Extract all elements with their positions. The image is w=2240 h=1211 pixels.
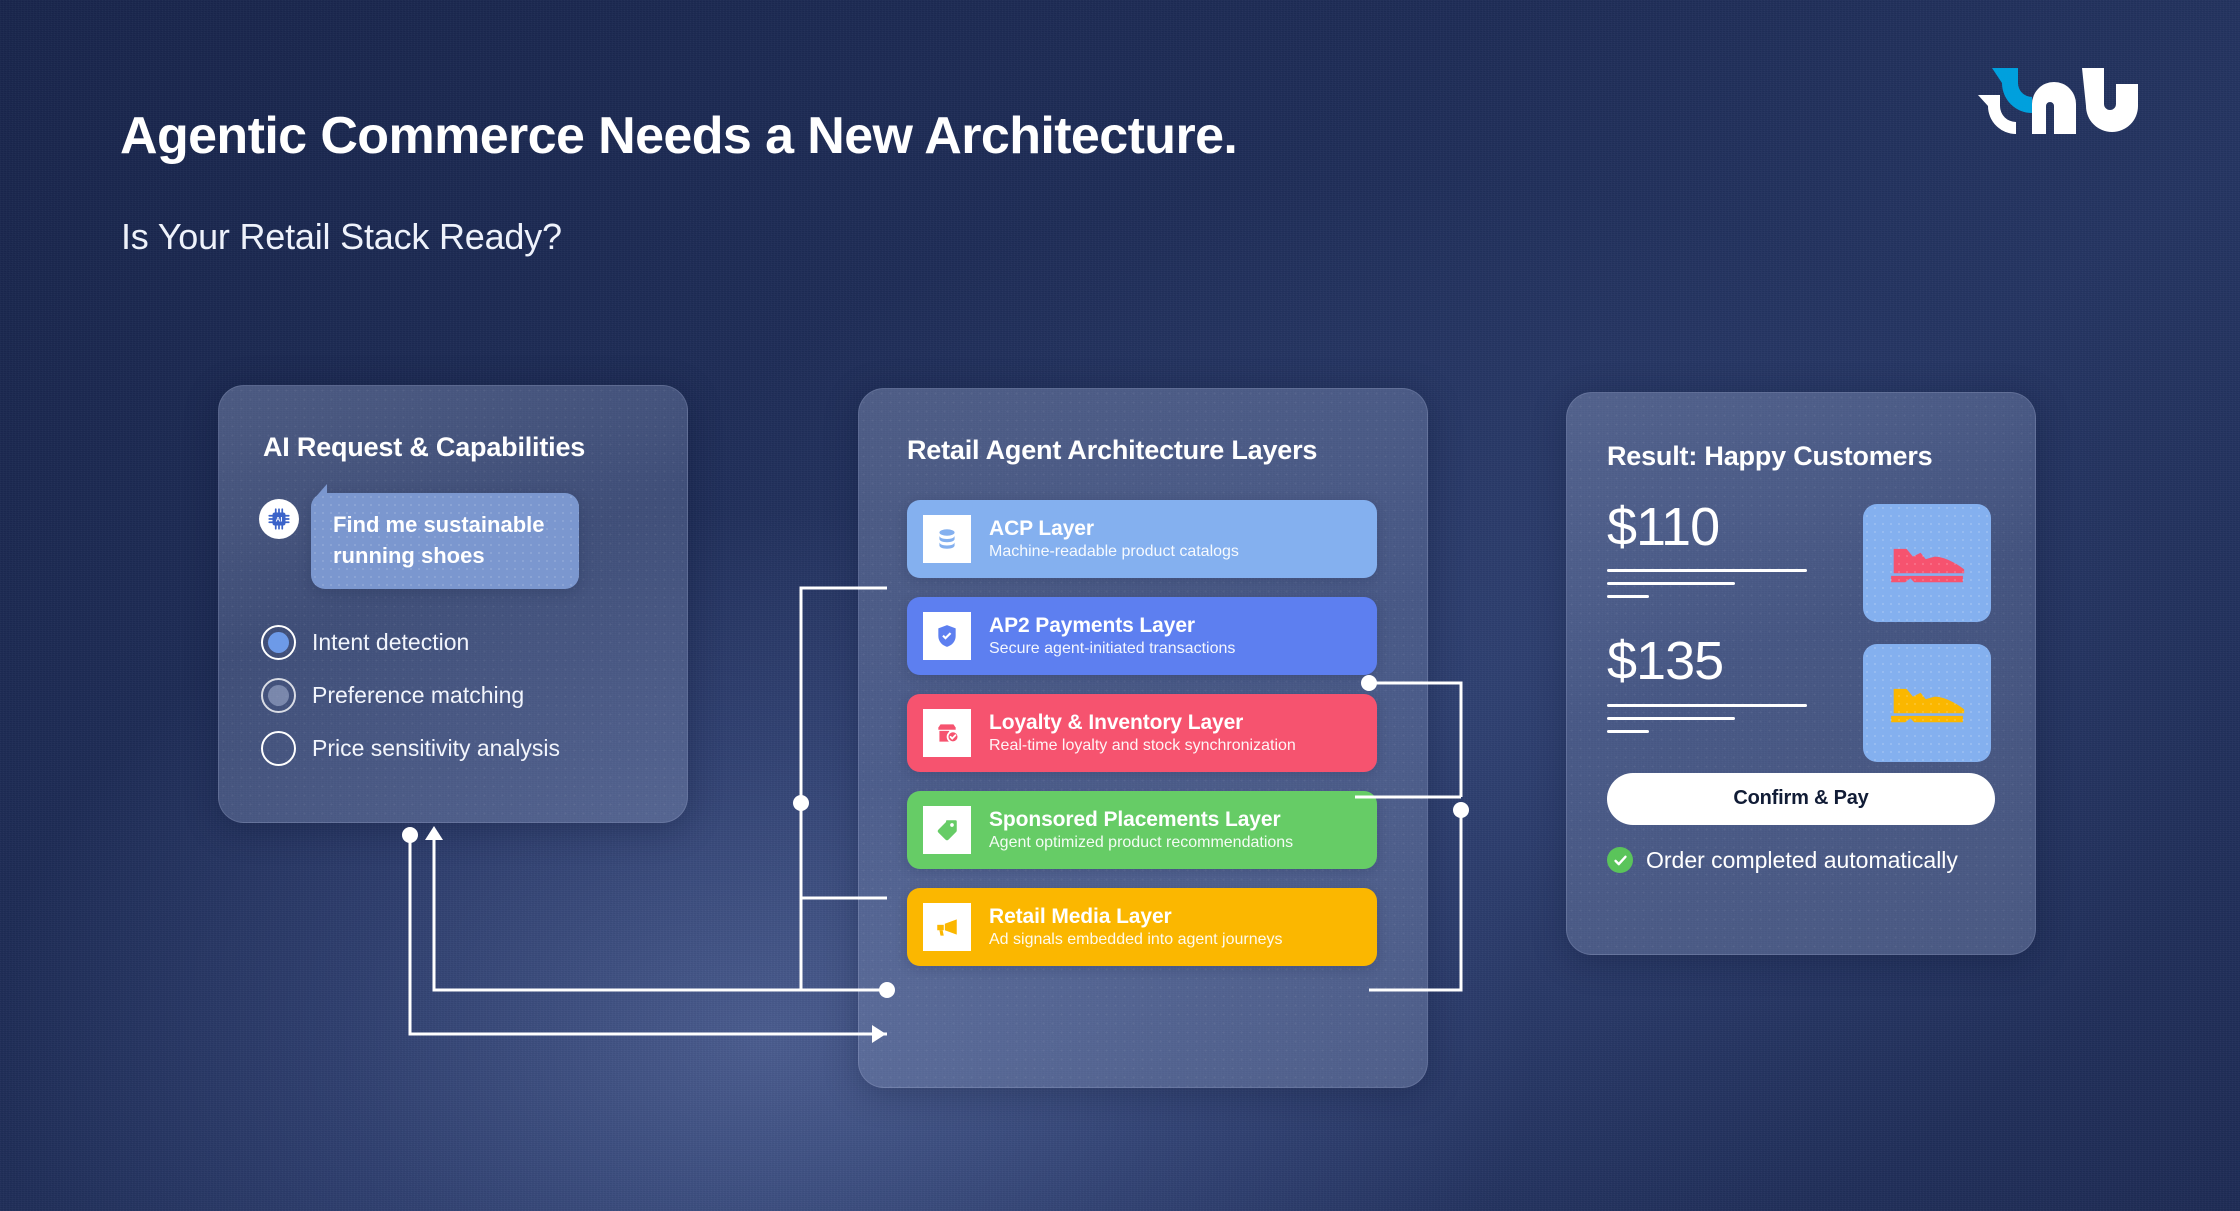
package-check-icon (923, 709, 971, 757)
placeholder-lines (1607, 704, 1855, 733)
capability-item-price-sensitivity-analysis[interactable]: Price sensitivity analysis (261, 731, 687, 766)
architecture-layers-panel: Retail Agent Architecture Layers ACP Lay… (858, 388, 1428, 1088)
layer-name: Retail Media Layer (989, 905, 1283, 929)
layer-desc: Secure agent-initiated transactions (989, 640, 1235, 658)
layer-desc: Agent optimized product recommendations (989, 834, 1293, 852)
ai-chip-glyph: AI (266, 506, 292, 532)
check-glyph (1612, 852, 1629, 869)
price-column: $110 $135 (1607, 498, 1855, 767)
capability-item-preference-matching[interactable]: Preference matching (261, 678, 687, 713)
confirm-and-pay-button[interactable]: Confirm & Pay (1607, 773, 1995, 825)
layer-desc: Machine-readable product catalogs (989, 543, 1239, 561)
layer-name: ACP Layer (989, 517, 1239, 541)
radio-indicator-filled[interactable] (261, 625, 296, 660)
price-tag-glyph (934, 817, 960, 843)
layer-loyalty-inventory[interactable]: Loyalty & Inventory Layer Real-time loya… (907, 694, 1377, 772)
database-glyph (934, 526, 960, 552)
svg-text:AI: AI (276, 517, 283, 524)
layer-ap2-payments[interactable]: AP2 Payments Layer Secure agent-initiate… (907, 597, 1377, 675)
tru-logo-icon (1974, 62, 2140, 134)
ai-chip-icon: AI (259, 499, 299, 539)
capability-label: Price sensitivity analysis (312, 735, 560, 762)
placeholder-lines (1607, 569, 1855, 598)
radio-indicator-dim[interactable] (261, 678, 296, 713)
chat-bubble: Find me sustainable running shoes (311, 493, 579, 589)
capability-label: Preference matching (312, 682, 524, 709)
right-panel-title: Result: Happy Customers (1607, 441, 2035, 472)
page-subtitle: Is Your Retail Stack Ready? (121, 216, 562, 258)
sneaker-icon (1886, 678, 1968, 728)
product-price: $135 (1607, 632, 1855, 691)
chat-row: AI Find me sustainable running shoes (259, 493, 687, 589)
product-thumbnail-2[interactable] (1863, 644, 1991, 762)
order-status-text: Order completed automatically (1646, 847, 1958, 874)
product-thumbnails (1863, 504, 1991, 767)
layer-name: AP2 Payments Layer (989, 614, 1235, 638)
package-check-glyph (934, 720, 960, 746)
ai-request-panel: AI Request & Capabilities AI Find me sus… (218, 385, 688, 823)
product-summary: $110 $135 (1607, 498, 2035, 767)
megaphone-glyph (934, 914, 960, 940)
layer-retail-media[interactable]: Retail Media Layer Ad signals embedded i… (907, 888, 1377, 966)
capabilities-list: Intent detection Preference matching Pri… (261, 625, 687, 766)
shield-check-glyph (934, 623, 960, 649)
page-title: Agentic Commerce Needs a New Architectur… (120, 106, 1237, 166)
megaphone-icon (923, 903, 971, 951)
sneaker-icon (1886, 538, 1968, 588)
capability-item-intent-detection[interactable]: Intent detection (261, 625, 687, 660)
product-row-1: $110 (1607, 498, 1855, 598)
radio-indicator-empty[interactable] (261, 731, 296, 766)
order-status: Order completed automatically (1607, 847, 2035, 874)
tru-logo (1974, 62, 2140, 134)
result-panel: Result: Happy Customers $110 $135 (1566, 392, 2036, 955)
layer-acp[interactable]: ACP Layer Machine-readable product catal… (907, 500, 1377, 578)
shield-check-icon (923, 612, 971, 660)
layer-name: Sponsored Placements Layer (989, 808, 1293, 832)
check-circle-icon (1607, 847, 1633, 873)
capability-label: Intent detection (312, 629, 469, 656)
product-price: $110 (1607, 498, 1855, 557)
layer-desc: Real-time loyalty and stock synchronizat… (989, 737, 1296, 755)
product-row-2: $135 (1607, 632, 1855, 732)
left-panel-title: AI Request & Capabilities (263, 432, 687, 463)
product-thumbnail-1[interactable] (1863, 504, 1991, 622)
layers-list: ACP Layer Machine-readable product catal… (907, 500, 1427, 966)
layer-sponsored-placements[interactable]: Sponsored Placements Layer Agent optimiz… (907, 791, 1377, 869)
price-tag-icon (923, 806, 971, 854)
layer-name: Loyalty & Inventory Layer (989, 711, 1296, 735)
middle-panel-title: Retail Agent Architecture Layers (907, 433, 1383, 468)
database-icon (923, 515, 971, 563)
layer-desc: Ad signals embedded into agent journeys (989, 931, 1283, 949)
